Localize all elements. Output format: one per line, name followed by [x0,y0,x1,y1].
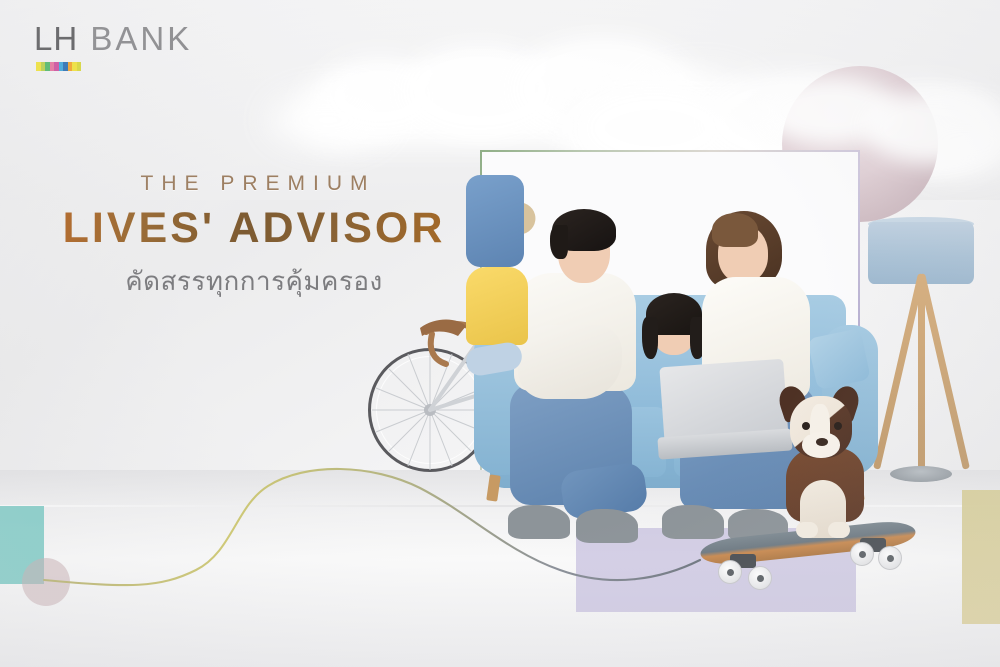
daughter-legs [466,175,524,267]
poster-canvas: LH BANK THE PREMIUM LIVES' ADVISOR คัดสร… [0,0,1000,667]
mother-hair-front [712,213,758,247]
logo-wordmark: LH BANK [34,22,192,55]
daughter-sock [464,340,524,377]
father-hair-side [550,225,568,259]
logo-color-bars [36,62,81,71]
lh-bank-logo[interactable]: LH BANK [34,22,192,71]
father-arm [518,325,622,399]
swoosh-curve [0,420,1000,667]
headline-subtitle: คัดสรรทุกการคุ้มครอง [44,261,464,302]
sofa-pillow [807,328,871,390]
person-daughter [466,175,528,373]
headline-title: LIVES' ADVISOR [44,204,464,253]
daughter-hair-left [642,317,658,359]
logo-bank-text: BANK [78,20,192,57]
daughter-top [466,267,528,345]
headline-eyebrow: THE PREMIUM [44,172,464,196]
headline-block: THE PREMIUM LIVES' ADVISOR คัดสรรทุกการค… [44,172,464,302]
cloud-puff-front [864,92,1000,164]
logo-lh-text: LH [34,20,78,57]
cloud-puff [268,92,388,148]
